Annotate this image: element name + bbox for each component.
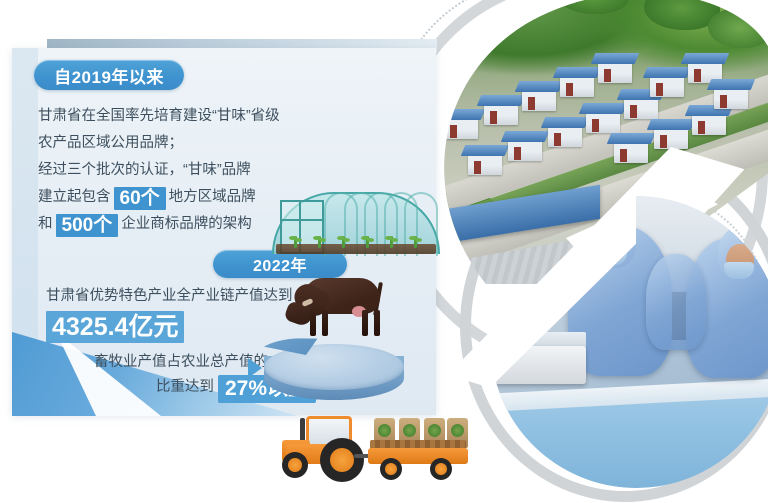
line4-prefix: 建立起包含 [38, 189, 111, 205]
grazing-cow-illustration [286, 272, 396, 338]
sprout-icon [414, 236, 417, 248]
cow-leg [310, 310, 316, 336]
greenhouse-tunnel-illustration [272, 192, 440, 254]
paragraph-line-1: 甘肃省在全国率先培育建设“甘味”省级 [38, 103, 368, 130]
house-icon [598, 62, 632, 83]
house-icon [522, 90, 556, 111]
paragraph-line-3: 经过三个批次的认证，“甘味”品牌 [38, 157, 368, 184]
house-icon [484, 104, 518, 125]
line4-prefix-share: 比重达到 [156, 379, 214, 395]
line5-suffix: 企业商标品牌的架构 [121, 216, 252, 232]
line5-prefix: 和 [38, 216, 53, 232]
house-icon [654, 128, 688, 149]
house-icon [692, 114, 726, 135]
house-icon [508, 140, 542, 161]
house-icon [548, 126, 582, 147]
greenhouse-soil-bed [276, 244, 436, 254]
sprout-icon [294, 236, 297, 248]
house-icon [650, 76, 684, 97]
pie-chart-base-slice [264, 344, 404, 390]
house-icon [560, 76, 594, 97]
house-icon [714, 88, 748, 109]
paragraph-line-2: 农产品区域公用品牌； [38, 130, 368, 157]
cow-leg [362, 310, 368, 336]
trailer-illustration [368, 420, 472, 478]
cow-leg [374, 310, 380, 336]
tractor-front-wheel [282, 452, 308, 478]
sprout-icon [318, 236, 321, 248]
line4-suffix: 地方区域品牌 [169, 189, 256, 205]
worker-figure [646, 254, 706, 350]
sprout-icon [342, 236, 345, 248]
sprout-icon [390, 236, 393, 248]
badge-since-2019: 自2019年以来 [34, 60, 184, 90]
tractor-illustration [282, 414, 372, 478]
highlight-500-count: 500个 [56, 214, 119, 237]
trailer-wheel [380, 458, 402, 480]
house-icon [614, 142, 648, 163]
cow-leg [322, 310, 328, 336]
highlight-60-count: 60个 [114, 187, 166, 210]
infographic-canvas: 自2019年以来 甘肃省在全国率先培育建设“甘味”省级 农产品区域公用品牌； 经… [0, 0, 768, 503]
house-icon [586, 112, 620, 133]
house-icon [468, 154, 502, 175]
highlight-total-output-value: 4325.4亿元 [46, 311, 184, 343]
house-icon [624, 98, 658, 119]
trailer-wheel [430, 458, 452, 480]
pie-chart-3d [258, 338, 410, 408]
badge-since-2019-label: 自2019年以来 [54, 63, 164, 88]
tractor-rear-wheel [320, 438, 364, 482]
lab-counter [490, 396, 768, 488]
sprout-icon [366, 236, 369, 248]
